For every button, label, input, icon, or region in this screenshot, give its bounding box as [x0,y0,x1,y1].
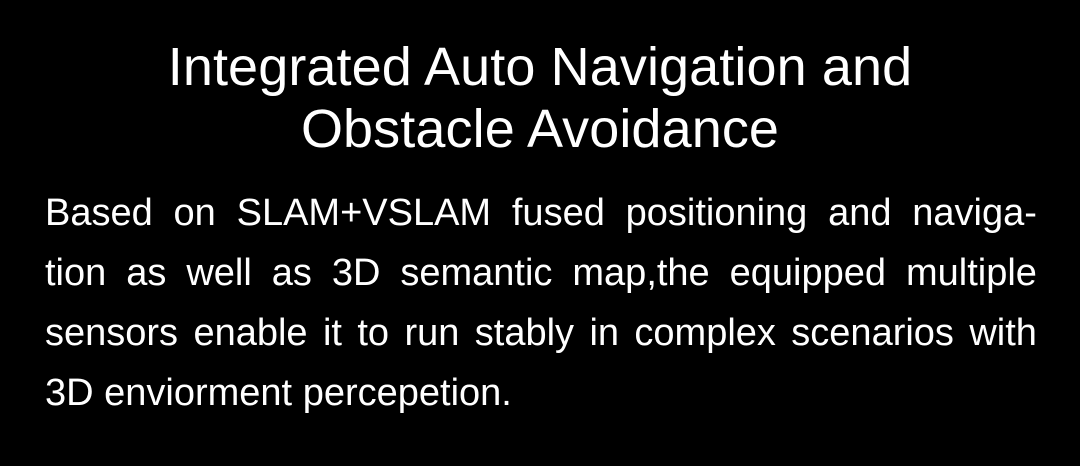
body-word: as [126,252,166,295]
body-word: Based [45,192,153,235]
body-word: tion [45,252,106,295]
body-word: as [272,252,312,295]
body-word: to [357,312,389,355]
slide-body-paragraph: BasedonSLAM+VSLAMfusedpositioningandnavi… [45,183,1037,423]
body-line-2: tionaswellas3Dsemanticmap,theequippedmul… [45,243,1037,303]
body-word: multiple [906,252,1037,295]
body-word: positioning [626,192,808,235]
slide-title: Integrated Auto Navigation and Obstacle … [0,36,1080,160]
body-line-1: BasedonSLAM+VSLAMfusedpositioningandnavi… [45,183,1037,243]
body-word: scenarios [791,312,954,355]
body-word: sensors [45,312,178,355]
body-word: on [174,192,216,235]
body-space [94,372,105,415]
body-word: percepetion. [303,372,512,415]
title-line-1: Integrated Auto Navigation and [0,36,1080,98]
body-word: equipped [730,252,886,295]
body-word: enable [193,312,307,355]
body-word: fused [512,192,605,235]
body-word: semantic [400,252,552,295]
body-word: well [186,252,251,295]
slide-canvas: Integrated Auto Navigation and Obstacle … [0,0,1080,466]
body-word: naviga- [912,192,1037,235]
body-line-3: sensorsenableittorunstablyincomplexscena… [45,303,1037,363]
body-line-4: 3D enviorment percepetion. [45,363,1037,423]
body-word: and [828,192,891,235]
body-word: enviorment [104,372,292,415]
body-word: 3D [45,372,94,415]
body-word: stably [475,312,574,355]
body-word: complex [634,312,776,355]
body-word: run [404,312,459,355]
body-word: map,the [572,252,709,295]
body-space [292,372,303,415]
body-word: it [323,312,342,355]
body-word: 3D [332,252,381,295]
title-line-2: Obstacle Avoidance [0,98,1080,160]
body-word: SLAM+VSLAM [237,192,492,235]
body-word: with [969,312,1037,355]
body-word: in [589,312,619,355]
